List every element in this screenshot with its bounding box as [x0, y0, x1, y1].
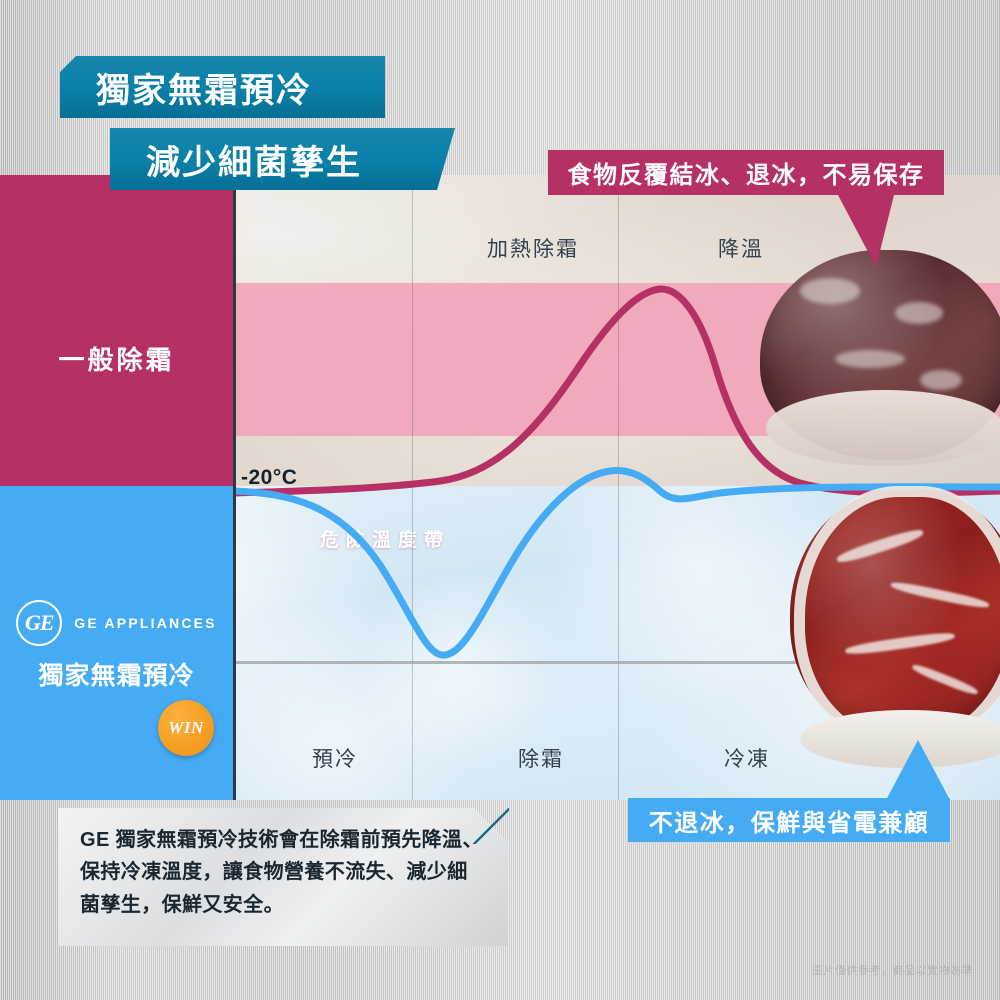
ge-monogram-icon: GE — [16, 600, 62, 646]
callout-normal-defrost-problem: 食物反覆結冰、退冰，不易保存 — [548, 150, 944, 195]
y-axis — [233, 175, 236, 800]
legend-label-normal-defrost: 一般除霜 — [0, 340, 233, 377]
win-award-badge: WIN — [158, 700, 214, 756]
legend-label-ge-precool: 獨家無霜預冷 — [0, 656, 233, 692]
description-text: GE 獨家無霜預冷技術會在除霜前預先降溫、保持冷凍溫度，讓食物營養不流失、減少細… — [80, 824, 486, 921]
ge-brand-block: GE GE APPLIANCES 獨家無霜預冷 — [0, 600, 233, 692]
freezer-burned-meat-photo — [760, 240, 1000, 490]
callout-ge-precool-benefit: 不退冰，保鮮與省電兼顧 — [628, 798, 950, 842]
fresh-frozen-meat-photo — [790, 470, 1000, 800]
phase-label-precool: 預冷 — [312, 743, 358, 773]
description-box-corner-accent — [473, 808, 509, 844]
ge-monogram-text: GE — [25, 610, 54, 636]
phase-label-heating-defrost: 加熱除霜 — [487, 233, 579, 263]
phase-label-defrost: 除霜 — [518, 743, 564, 773]
title-banner-primary: 獨家無霜預冷 — [60, 56, 385, 118]
disclaimer-text: 圖片僅供參考，商品以實物為準 — [812, 962, 973, 978]
win-award-text: WIN — [168, 718, 204, 738]
description-box: GE 獨家無霜預冷技術會在除霜前預先降溫、保持冷凍溫度，讓食物營養不流失、減少細… — [58, 808, 508, 946]
title-banner-secondary: 減少細菌孳生 — [110, 128, 455, 190]
infographic-canvas: 危險溫度帶 加熱除霜 降溫 預冷 除霜 冷凍 一般除霜 GE GE APPLIA… — [0, 0, 1000, 1000]
phase-label-cooldown: 降溫 — [718, 233, 764, 263]
phase-label-freeze: 冷凍 — [724, 743, 770, 773]
ge-brand-name: GE APPLIANCES — [74, 615, 216, 631]
legend-panel-normal-defrost — [0, 175, 233, 486]
reference-temperature-label: -20°C — [241, 466, 297, 490]
